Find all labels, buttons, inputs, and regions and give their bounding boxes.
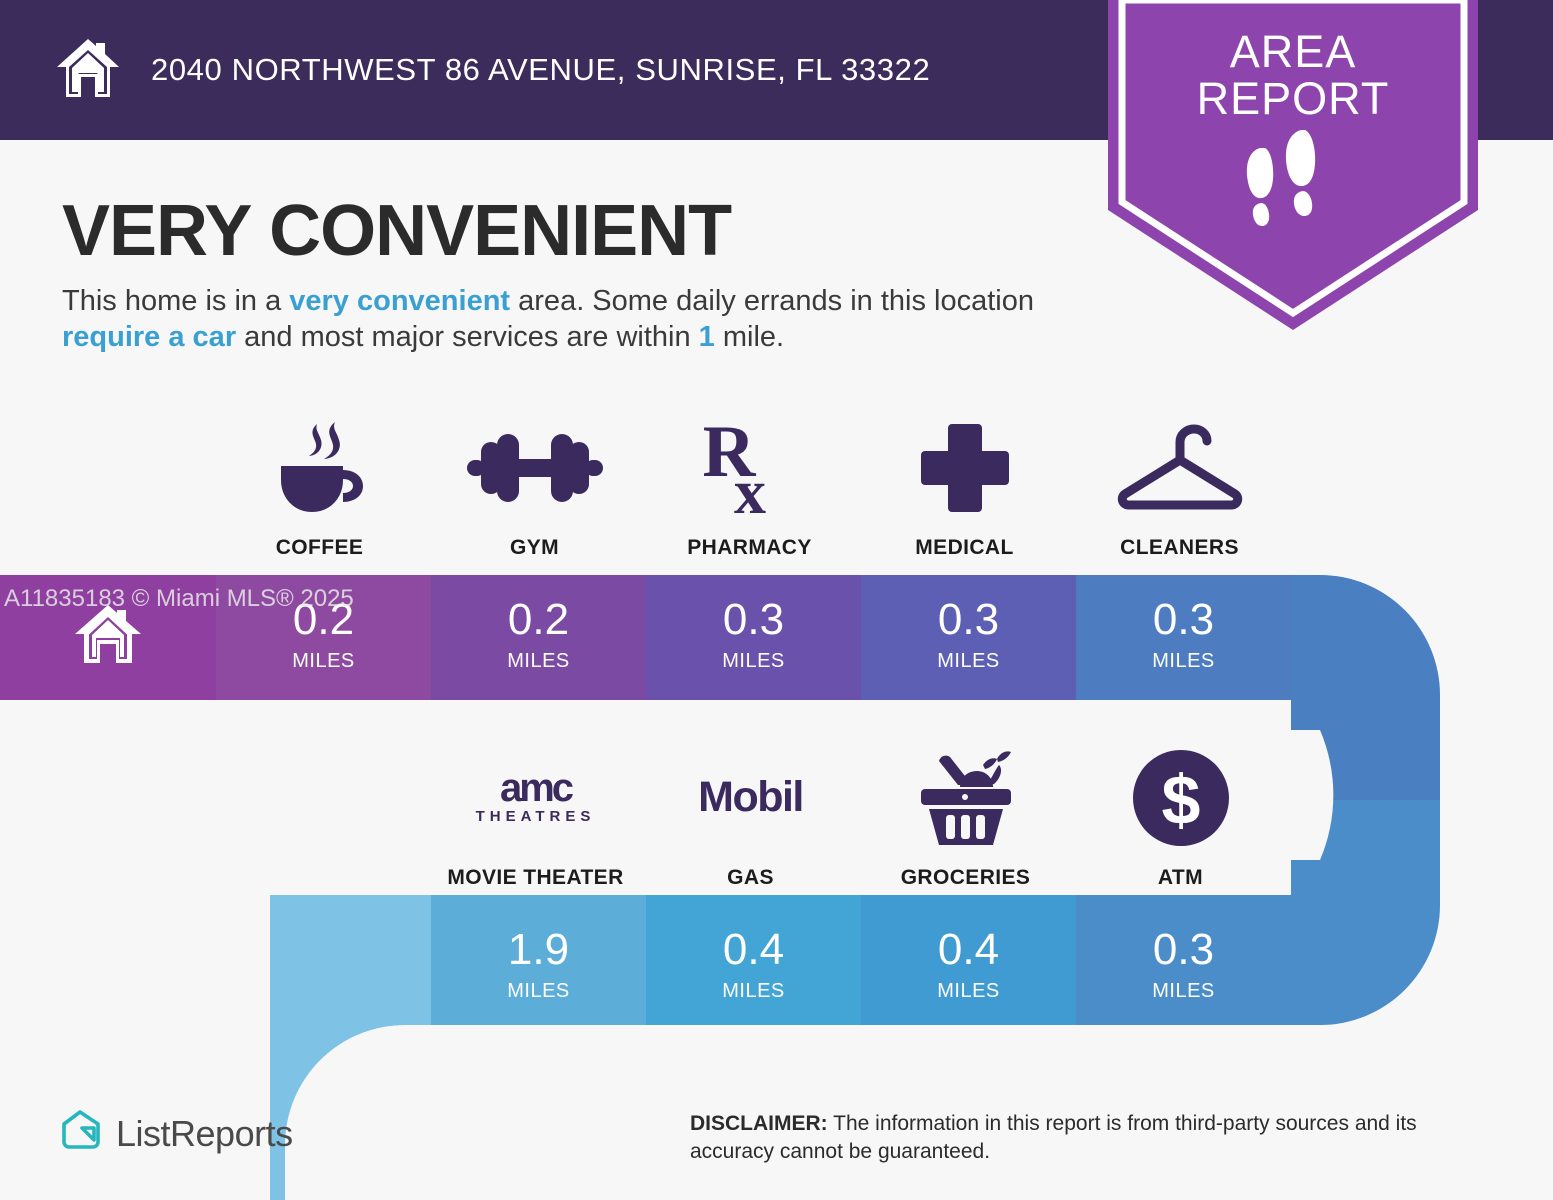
distance-unit: MILES	[507, 980, 570, 1003]
mobil-wordmark: Mobil	[698, 773, 803, 822]
home-marker	[0, 575, 216, 695]
distance-unit: MILES	[1152, 650, 1215, 673]
listreports-wordmark: ListReports	[116, 1113, 293, 1155]
amenity-gas: Mobil GAS	[643, 745, 858, 890]
segment-turn-bottom	[270, 895, 431, 1035]
amenity-label: GROCERIES	[901, 866, 1031, 890]
badge-shape-svg	[1108, 0, 1478, 330]
medical-cross-icon	[919, 415, 1011, 520]
distance-value: 0.3	[1153, 928, 1214, 972]
distance-value: 0.2	[508, 598, 569, 642]
desc-highlight-3: 1	[699, 321, 715, 353]
disclaimer-label: DISCLAIMER:	[690, 1112, 828, 1135]
distance-unit: MILES	[937, 650, 1000, 673]
distance-gas: 0.4 MILES	[646, 905, 861, 1025]
segment-tail	[270, 1025, 431, 1200]
amenity-label: ATM	[1158, 866, 1203, 890]
dumbbell-icon	[467, 415, 603, 520]
distance-unit: MILES	[1152, 980, 1215, 1003]
desc-part-1: This home is in a	[62, 285, 289, 317]
mobil-logo: Mobil	[698, 745, 803, 850]
amenity-coffee: COFFEE	[212, 415, 427, 560]
amenity-label: PHARMACY	[687, 536, 812, 560]
amenity-groceries: GROCERIES	[858, 745, 1073, 890]
desc-part-3: and most major services are within	[236, 321, 699, 353]
distance-unit: MILES	[507, 650, 570, 673]
amenity-label: CLEANERS	[1120, 536, 1239, 560]
distance-value: 0.3	[1153, 598, 1214, 642]
distance-value: 0.3	[723, 598, 784, 642]
amc-wordmark: amc	[500, 770, 571, 806]
area-report-badge: AREA REPORT	[1108, 0, 1478, 330]
amenity-label: MEDICAL	[915, 536, 1013, 560]
distance-unit: MILES	[722, 980, 785, 1003]
home-icon-svg	[55, 37, 121, 99]
grocery-basket-icon	[913, 745, 1019, 850]
distance-value: 0.3	[938, 598, 999, 642]
distance-cleaners: 0.3 MILES	[1076, 575, 1291, 695]
distance-gym: 0.2 MILES	[431, 575, 646, 695]
listreports-house-icon	[58, 1108, 104, 1159]
coffee-cup-icon	[273, 415, 367, 520]
svg-text:x: x	[734, 456, 766, 518]
desc-highlight-2: require a car	[62, 321, 236, 353]
distance-coffee: 0.2 MILES	[216, 575, 431, 695]
distance-pharmacy: 0.3 MILES	[646, 575, 861, 695]
property-address: 2040 NORTHWEST 86 AVENUE, SUNRISE, FL 33…	[151, 52, 930, 88]
svg-text:$: $	[1161, 761, 1200, 839]
summary-description: This home is in a very convenient area. …	[62, 283, 1102, 356]
distance-unit: MILES	[292, 650, 355, 673]
distance-value: 1.9	[508, 928, 569, 972]
amc-theatres-logo: amc THEATRES	[476, 745, 596, 850]
amenity-label: COFFEE	[276, 536, 364, 560]
amc-subtext: THEATRES	[476, 808, 596, 825]
distance-unit: MILES	[937, 980, 1000, 1003]
home-icon	[55, 37, 121, 104]
distance-atm: 0.3 MILES	[1076, 905, 1291, 1025]
amenity-gym: GYM	[427, 415, 642, 560]
desc-part-4: mile.	[715, 321, 784, 353]
amenity-label: GAS	[727, 866, 774, 890]
amenity-cleaners: CLEANERS	[1072, 415, 1287, 560]
distance-movie-theater: 1.9 MILES	[431, 905, 646, 1025]
amenity-icon-row-2: amc THEATRES MOVIE THEATER Mobil GAS	[428, 745, 1288, 890]
amenity-icon-row-1: COFFEE GYM R x PHAR	[212, 415, 1287, 560]
amenity-label: GYM	[510, 536, 559, 560]
segment-turn-top	[1291, 565, 1553, 700]
desc-highlight-1: very convenient	[289, 285, 510, 317]
listreports-logo: ListReports	[58, 1108, 293, 1159]
desc-part-2: area. Some daily errands in this locatio…	[510, 285, 1034, 317]
amenity-medical: MEDICAL	[857, 415, 1072, 560]
amenity-movie-theater: amc THEATRES MOVIE THEATER	[428, 745, 643, 890]
amenity-label: MOVIE THEATER	[447, 866, 623, 890]
page-title: VERY CONVENIENT	[62, 190, 731, 272]
dollar-circle-icon: $	[1131, 745, 1231, 850]
distance-value: 0.4	[938, 928, 999, 972]
distance-medical: 0.3 MILES	[861, 575, 1076, 695]
amenity-pharmacy: R x PHARMACY	[642, 415, 857, 560]
distance-groceries: 0.4 MILES	[861, 905, 1076, 1025]
home-marker-icon	[73, 603, 143, 667]
clothes-hanger-icon	[1117, 415, 1243, 520]
amenity-atm: $ ATM	[1073, 745, 1288, 890]
disclaimer: DISCLAIMER: The information in this repo…	[690, 1110, 1500, 1167]
distance-value: 0.4	[723, 928, 784, 972]
distance-value: 0.2	[293, 598, 354, 642]
distance-unit: MILES	[722, 650, 785, 673]
prescription-rx-icon: R x	[704, 415, 796, 520]
